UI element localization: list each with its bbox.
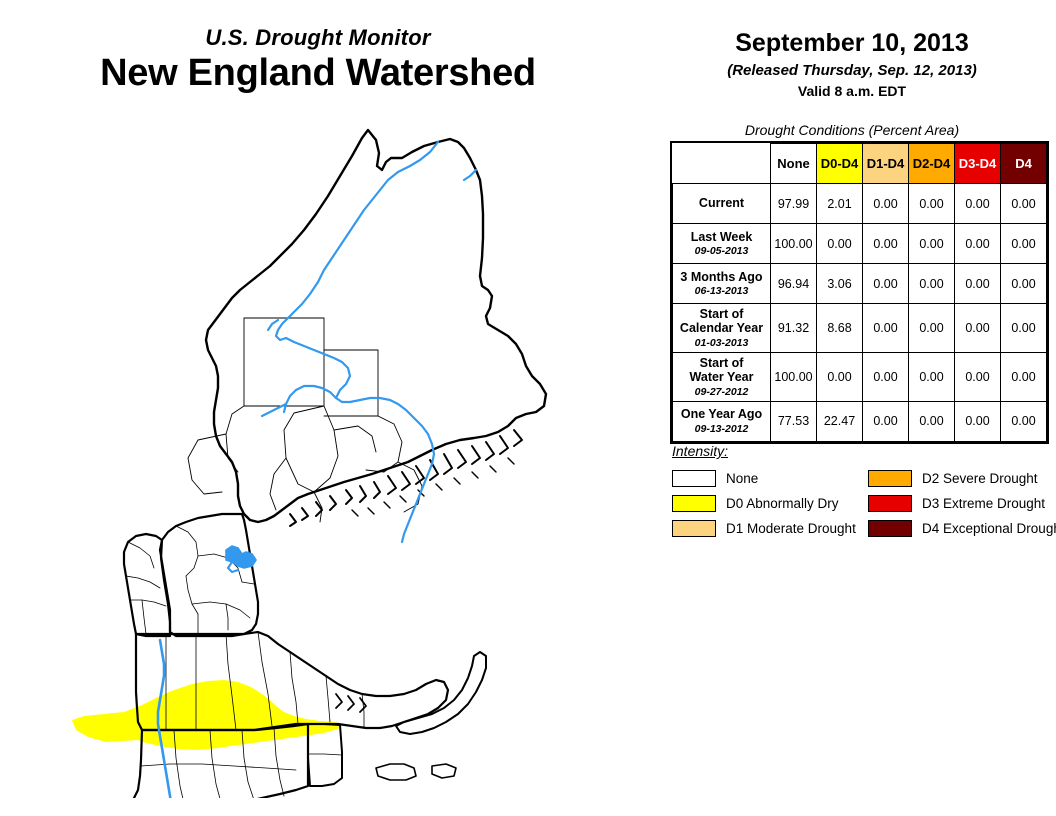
table-row-label: Current [673,184,771,224]
date-block: September 10, 2013 (Released Thursday, S… [656,30,1048,99]
table-cell-value: 0.00 [1001,352,1047,401]
legend-label: None [726,471,758,486]
table-cell-value: 77.53 [771,401,817,441]
map-background [46,118,626,798]
table-corner-cell [673,144,771,184]
table-cell-value: 0.00 [955,352,1001,401]
table-row-label: Start ofWater Year09-27-2012 [673,352,771,401]
legend-label: D1 Moderate Drought [726,521,856,536]
table-column-header-d3-d4: D3-D4 [955,144,1001,184]
table-column-header-d1-d4: D1-D4 [863,144,909,184]
map-panel: U.S. Drought Monitor New England Watersh… [0,0,648,816]
new-england-watershed-map[interactable] [46,118,626,798]
table-cell-value: 0.00 [1001,304,1047,353]
table-row: Start ofCalendar Year01-03-201391.328.68… [673,304,1047,353]
legend-swatch [868,520,912,537]
table-cell-value: 0.00 [909,352,955,401]
legend-item: None [672,466,868,491]
table-row-label: 3 Months Ago06-13-2013 [673,264,771,304]
table-cell-value: 100.00 [771,352,817,401]
table-row: Last Week09-05-2013100.000.000.000.000.0… [673,224,1047,264]
legend-swatch [672,520,716,537]
table-cell-value: 22.47 [817,401,863,441]
page-title: New England Watershed [0,52,636,96]
legend-label: D0 Abnormally Dry [726,496,839,511]
table-header-row: NoneD0-D4D1-D4D2-D4D3-D4D4 [673,144,1047,184]
table-cell-value: 96.94 [771,264,817,304]
legend-swatch [672,470,716,487]
table-row-label: Start ofCalendar Year01-03-2013 [673,304,771,353]
table-row: 3 Months Ago06-13-201396.943.060.000.000… [673,264,1047,304]
table-row-sublabel: 09-13-2012 [675,423,768,435]
drought-conditions-table: NoneD0-D4D1-D4D2-D4D3-D4D4 Current97.992… [672,143,1047,442]
table-cell-value: 0.00 [863,224,909,264]
table-cell-value: 0.00 [1001,184,1047,224]
legend-label: D2 Severe Drought [922,471,1038,486]
table-caption: Drought Conditions (Percent Area) [656,122,1048,138]
table-header-row-inner: NoneD0-D4D1-D4D2-D4D3-D4D4 [673,144,1047,184]
title-block: U.S. Drought Monitor New England Watersh… [0,26,636,96]
table-cell-value: 0.00 [1001,401,1047,441]
legend-item: D3 Extreme Drought [868,491,1048,516]
table-row-label: Last Week09-05-2013 [673,224,771,264]
table-row-sublabel: 01-03-2013 [675,337,768,349]
table-row-sublabel: 06-13-2013 [675,285,768,297]
table-cell-value: 0.00 [909,304,955,353]
table-column-header-d2-d4: D2-D4 [909,144,955,184]
table-body: Current97.992.010.000.000.000.00Last Wee… [673,184,1047,442]
table-cell-value: 0.00 [863,304,909,353]
table-cell-value: 0.00 [909,224,955,264]
table-cell-value: 2.01 [817,184,863,224]
table-row: Start ofWater Year09-27-2012100.000.000.… [673,352,1047,401]
table-cell-value: 0.00 [909,401,955,441]
table-cell-value: 0.00 [909,264,955,304]
table-cell-value: 0.00 [817,224,863,264]
table-cell-value: 100.00 [771,224,817,264]
table-column-header-d4: D4 [1001,144,1047,184]
table-cell-value: 0.00 [1001,224,1047,264]
legend-item: D1 Moderate Drought [672,516,868,541]
table-cell-value: 8.68 [817,304,863,353]
table-cell-value: 0.00 [909,184,955,224]
table-row-label: One Year Ago09-13-2012 [673,401,771,441]
table-cell-value: 0.00 [863,401,909,441]
table-cell-value: 0.00 [955,184,1001,224]
table-cell-value: 0.00 [955,401,1001,441]
legend-label: D4 Exceptional Drought [922,521,1056,536]
table-cell-value: 3.06 [817,264,863,304]
legend-item: D2 Severe Drought [868,466,1048,491]
table-row: One Year Ago09-13-201277.5322.470.000.00… [673,401,1047,441]
table-cell-value: 0.00 [955,304,1001,353]
table-cell-value: 0.00 [955,224,1001,264]
table-row-sublabel: 09-27-2012 [675,386,768,398]
legend-swatch [868,470,912,487]
table-column-header-d0-d4: D0-D4 [817,144,863,184]
legend-item: D4 Exceptional Drought [868,516,1048,541]
drought-map[interactable] [46,118,626,798]
table-column-header-none: None [771,144,817,184]
table-row: Current97.992.010.000.000.000.00 [673,184,1047,224]
intensity-heading: Intensity: [672,443,728,459]
report-date: September 10, 2013 [656,30,1048,58]
table-cell-value: 91.32 [771,304,817,353]
legend-swatch [672,495,716,512]
release-date: (Released Thursday, Sep. 12, 2013) [656,62,1048,79]
table-cell-value: 0.00 [863,352,909,401]
table-cell-value: 97.99 [771,184,817,224]
table-cell-value: 0.00 [1001,264,1047,304]
table-cell-value: 0.00 [863,264,909,304]
program-title: U.S. Drought Monitor [0,26,636,49]
legend-item: D0 Abnormally Dry [672,491,868,516]
table-cell-value: 0.00 [817,352,863,401]
intensity-legend: NoneD2 Severe DroughtD0 Abnormally DryD3… [672,466,1048,541]
table-cell-value: 0.00 [955,264,1001,304]
legend-label: D3 Extreme Drought [922,496,1045,511]
table-cell-value: 0.00 [863,184,909,224]
info-panel: September 10, 2013 (Released Thursday, S… [648,0,1056,816]
legend-swatch [868,495,912,512]
valid-time: Valid 8 a.m. EDT [656,83,1048,99]
table-row-sublabel: 09-05-2013 [675,245,768,257]
